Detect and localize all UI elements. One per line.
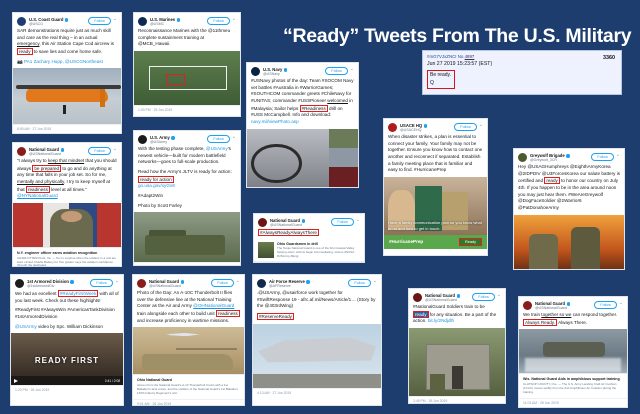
more-options-icon[interactable]: ⌄ [115,279,119,284]
link-card-caption[interactable]: Ohio Guardsmen in drill The Texas Nation… [254,240,364,261]
tweet-text: #AlwaysReadyAlwaysThere [254,229,364,240]
tweet-header: Air Force Reserve @AFReserve Follow ⌄ [253,275,381,290]
avatar [388,123,397,132]
account-handle: @USMC [150,22,205,26]
tweet-media[interactable] [133,327,244,374]
tweet-header: USACE HQ @USACEHQ Follow ⌄ [384,119,487,134]
tweet-timestamp: 8:50 AM · 27 Jun 2019 [13,124,121,134]
tweet-media[interactable]: Have a family communication plan so you … [384,177,487,235]
tweet-card-ng-bunker[interactable]: National Guard @USNationalGuard Follow ⌄… [408,288,506,404]
ready-button[interactable]: Ready [459,238,482,246]
follow-button[interactable]: Follow [594,301,616,309]
follow-button[interactable]: Follow [90,279,112,287]
tweet-media[interactable] [13,203,121,247]
account-handle: @USNationalGuard [425,298,470,302]
media-overlay-text: Have a family communication plan so you … [388,220,483,231]
follow-button[interactable]: Follow [207,17,229,25]
account-names: U.S. Marines @USMC [150,17,205,26]
more-options-icon[interactable]: ⌄ [350,67,354,72]
tweet-hashtag-wrap: #ReserveReady [253,313,381,324]
verified-badge-icon [567,302,570,305]
more-options-icon[interactable]: ⌄ [113,17,117,22]
verified-badge-icon [457,294,460,297]
tweet-timestamp: 11:03 AM · 26 Jun 2019 [519,398,627,408]
tweet-media[interactable] [134,51,240,105]
tweet-timestamp: 9:01 AM · 26 Jun 2019 [133,399,244,406]
verified-badge-icon [181,280,184,283]
tweet-credit: @USArmy video by Spc. William Dickinson [11,324,123,334]
video-title-overlay: READY FIRST [11,356,123,365]
collage-board: “Ready” Tweets From The U.S. Military 33… [0,0,640,414]
avatar [137,279,146,288]
account-handle: @USNationalGuard [535,306,592,310]
post-number: 3360 [603,55,615,61]
tweet-card-usace[interactable]: USACE HQ @USACEHQ Follow ⌄ When disaster… [383,118,488,256]
tweet-card-army-jltv[interactable]: U.S. Army @USArmy Follow ⌄ With the test… [133,130,241,266]
tweet-header: U.S. Army @USArmy Follow ⌄ [134,131,240,146]
more-options-icon[interactable]: ⌄ [373,279,377,284]
account-names: 1st Armored Division @1stArmoredDiv [27,279,88,288]
tweet-timestamp: 8:02 AM · 26 Jun 2019 [254,261,364,263]
more-options-icon[interactable]: ⌄ [497,293,501,298]
tweet-text-2: Read how the Army's JLTV is ready for ac… [134,169,240,193]
media-thumbnail-grid [329,129,358,187]
account-names: National Guard @USNationalGuard [149,279,209,288]
tweet-card-armored-div[interactable]: 1st Armored Division @1stArmoredDiv Foll… [10,274,124,406]
avatar [518,153,527,162]
verified-badge-icon [177,18,180,21]
account-handle: @USACEHQ [400,128,452,132]
more-options-icon[interactable]: ⌄ [232,17,236,22]
tweet-card-navy[interactable]: U.S. Navy @USNavy Follow ⌄ #USNavy photo… [246,62,359,188]
tweet-card-national-guard-quote[interactable]: National Guard @USNationalGuard Follow ⌄… [12,142,122,267]
more-options-icon[interactable]: ⌄ [356,218,360,223]
banner-hashtag: #HurricanePrep [389,239,423,244]
avatar [413,293,422,302]
follow-button[interactable]: Follow [88,147,110,155]
tweet-media[interactable] [13,68,121,124]
tweet-header: U.S. Navy @USNavy Follow ⌄ [247,63,358,78]
highlight-readiness: #Readiness [300,105,328,112]
account-handle: @USNationalGuard [270,223,329,227]
tweet-media[interactable] [514,215,624,270]
account-handle: @USNationalGuard [149,284,209,288]
tweet-text: When disaster strikes, a plan is essenti… [384,134,487,177]
link-card-caption[interactable]: N.Y. engineer officer earns aviation rec… [13,247,121,267]
account-names: Greywolf Brigade @Greywolf_3CR [530,153,589,162]
tweet-link[interactable]: go.usa.gov/xyGv8 [138,183,175,188]
highlight-alwaysready: #AlwaysReadyAlwaysThere [258,229,319,236]
more-options-icon[interactable]: ⌄ [479,123,483,128]
tweet-text: #USNavy photos of the day: Team #SOCOM N… [247,78,358,129]
account-names: National Guard @USNationalGuard [425,293,470,302]
follow-button[interactable]: Follow [454,123,476,131]
account-names: U.S. Army @USArmy [150,135,205,144]
avatar [17,17,26,26]
tweet-media[interactable] [519,329,627,373]
more-options-icon[interactable]: ⌄ [619,301,623,306]
account-handle: @USArmy [150,140,205,144]
highlight-readiness: readiness [26,186,50,193]
tweet-credit: 📷 PA1 Zachary Hupp, @USCGNortheast [13,59,121,69]
account-names: Air Force Reserve @AFReserve [269,279,346,288]
tweet-card-ng-a10[interactable]: National Guard @USNationalGuard Follow ⌄… [132,274,245,406]
post-meta: !!mG7VJxZNCI No.4897 [427,54,617,61]
post-datetime: Jun 27 2019 15:23:57 (EST) [427,61,617,69]
tweet-header: National Guard @USNationalGuard Follow ⌄ [409,289,505,304]
link-card-caption[interactable]: Wis. National Guard Aids in amphibious s… [519,373,627,397]
tweet-media[interactable] [247,129,358,187]
account-names: National Guard @USNationalGuard [29,147,86,156]
more-options-icon[interactable]: ⌄ [232,135,236,140]
verified-badge-icon [70,280,73,283]
page-title: “Ready” Tweets From The U.S. Military [283,26,628,47]
tweet-media[interactable] [409,328,505,396]
account-handle: @AFReserve [269,284,346,288]
tweet-media[interactable] [253,324,381,388]
highlight-readiness: readiness [216,310,240,317]
highlight-ready: ready [544,177,560,184]
account-handle: @Greywolf_3CR [530,158,589,162]
tweet-text: Hey @USAGHumphreys @EighthArmyKorea @2ID… [514,164,624,215]
tweet-header: Greywolf Brigade @Greywolf_3CR Follow ⌄ [514,149,624,164]
tweet-card-afrc[interactable]: Air Force Reserve @AFReserve Follow ⌄ .@… [252,274,382,406]
verified-badge-icon [424,124,427,127]
account-handle: @USCG [29,22,86,26]
tweet-header: U.S. Marines @USMC Follow ⌄ [134,13,240,28]
account-names: USACE HQ @USACEHQ [400,123,452,132]
highlight-always-ready: Always Ready. [523,319,557,326]
follow-button[interactable]: Follow [348,279,370,287]
follow-button[interactable]: Follow [325,67,347,75]
follow-button[interactable]: Follow [207,135,229,143]
highlight-ready: ready [17,48,33,55]
account-names: National Guard @USNationalGuard [535,301,592,310]
tweet-text: #NationalGuard Soldiers train to be read… [409,304,505,328]
avatar [251,67,260,76]
tweet-header: National Guard @USNationalGuard Follow ⌄ [13,143,121,158]
helicopter-art [26,87,108,102]
tweet-header: National Guard @USNationalGuard Follow ⌄ [254,214,364,229]
tweet-timestamp: 2:45 PM · 26 Jun 2019 [409,396,505,404]
q-post-block: 3360 !!mG7VJxZNCI No.4897 Jun 27 2019 15… [422,50,622,95]
tweet-text: Reconnaissance Marines with the @11thmeu… [134,28,240,51]
tweet-text: Photo of the Day: An A-10C Thunderbolt I… [133,290,244,327]
caption-title: N.Y. engineer officer earns aviation rec… [17,251,117,256]
tweet-timestamp: 1:00 PM · 25 Jun 2019 [134,105,240,115]
highlight-ready: ready [413,311,429,318]
verified-badge-icon [302,219,305,222]
post-body-line-2: Q [430,80,451,87]
tweet-text: We had an excellent #ReadyFirstWeek with… [11,290,123,307]
post-body: Be ready. Q [427,70,455,89]
post-no-link[interactable]: 4897 [465,54,475,59]
avatar [257,279,266,288]
verified-badge-icon [65,18,68,21]
tweet-timestamp: 8:47 PM · 27 Jun 2019 [134,262,240,266]
video-controls[interactable]: 0:41 / 2:08 [11,376,123,385]
avatar [138,135,147,144]
post-no-label: No. [458,54,465,59]
highlight-reservready: #ReserveReady [257,313,294,320]
more-options-icon[interactable]: ⌄ [113,147,117,152]
tank-art [142,354,233,370]
verified-badge-icon [61,148,64,151]
avatar [258,218,267,227]
tweet-media[interactable] [134,212,240,262]
avatar [15,279,24,288]
hurricane-prep-banner[interactable]: #HurricanePrep Ready [384,235,487,249]
tweet-text: With the testing phase complete, @USArmy… [134,146,240,169]
tweet-header: U.S. Coast Guard @USCG Follow ⌄ [13,13,121,28]
tweet-hashtag[interactable]: #Adapt2Win [134,193,240,203]
tweet-timestamp: 1:20 PM · 26 Jun 2019 [11,385,123,395]
play-icon[interactable] [14,379,18,383]
tweet-header: 1st Armored Division @1stArmoredDiv Foll… [11,275,123,290]
tweet-credit: Photo by Scott Farley [134,203,240,213]
more-options-icon[interactable]: ⌄ [616,153,620,158]
account-handle: @USNationalGuard [29,152,86,156]
tweet-hashtags[interactable]: #ReadyFirst #AlwaysWin #AmericasTankDivi… [11,307,123,323]
tweet-video[interactable]: READY FIRST 0:41 / 2:08 [11,333,123,385]
tweet-card-marines[interactable]: U.S. Marines @USMC Follow ⌄ Reconnaissan… [133,12,241,117]
tweet-text: We train together so we can respond toge… [519,312,627,329]
follow-button[interactable]: Follow [88,17,110,25]
account-names: U.S. Navy @USNavy [263,67,323,76]
caption-description: Airmen from the National Guard's A-10 Th… [137,384,240,396]
verified-badge-icon [171,136,174,139]
more-options-icon[interactable]: ⌄ [236,279,240,284]
tweet-header: National Guard @USNationalGuard Follow ⌄ [133,275,244,290]
tweet-header: National Guard @USNationalGuard Follow ⌄ [519,297,627,312]
highlight-ready-for-action: ready for action [138,176,174,183]
caption-description: The Texas National Guard is one of the f… [277,247,360,259]
tweet-text: .@USArmy, @usairforce work together for … [253,290,381,313]
post-tripcode: !!mG7VJxZNCI [427,54,457,59]
tweet-timestamp: 4:13 AM · 27 Jun 2019 [253,388,381,398]
link-card-caption[interactable]: Ohio National Guard Airmen from the Nati… [133,374,244,398]
account-names: U.S. Coast Guard @USCG [29,17,86,26]
post-body-line-1: Be ready. [430,72,451,79]
verified-badge-icon [284,68,287,71]
highlight-be-prepared: be prepared [32,165,61,172]
caption-description: CHARLOTTESVILLE, Va. — It's no surprise … [17,257,117,267]
tweet-card-greywolf[interactable]: Greywolf Brigade @Greywolf_3CR Follow ⌄ … [513,148,625,270]
hovercraft-art [543,342,606,357]
account-handle: @1stArmoredDiv [27,284,88,288]
tweet-card-ng-alwaysready[interactable]: National Guard @USNationalGuard Follow ⌄… [253,213,365,263]
follow-button[interactable]: Follow [472,293,494,301]
tweet-text: “I always try to keep that mindset that … [13,158,121,203]
tweet-text: SAR demonstrations require just as much … [13,28,121,59]
account-handle: @USNavy [263,72,323,76]
verified-badge-icon [306,280,309,283]
follow-button[interactable]: Follow [591,153,613,161]
avatar [138,17,147,26]
wheelchair-athlete-art [251,144,301,184]
video-timestamp: 0:41 / 2:08 [105,379,120,383]
caption-description: CLATSOP COUNTY, Ore. — The U.S. Army Lan… [523,383,623,395]
avatar [523,301,532,310]
follow-button[interactable]: Follow [211,279,233,287]
verified-badge-icon [566,154,569,157]
account-names: National Guard @USNationalGuard [270,218,329,227]
jltv-vehicle-art [145,235,226,255]
highlight-readyfirstweek[interactable]: #ReadyFirstWeek [58,290,98,297]
follow-button[interactable]: Follow [331,218,353,226]
avatar [17,147,26,156]
tweet-card-ng-hovercraft[interactable]: National Guard @USNationalGuard Follow ⌄… [518,296,628,408]
caption-thumbnail [258,242,274,258]
tweet-card-coast-guard[interactable]: U.S. Coast Guard @USCG Follow ⌄ SAR demo… [12,12,122,134]
